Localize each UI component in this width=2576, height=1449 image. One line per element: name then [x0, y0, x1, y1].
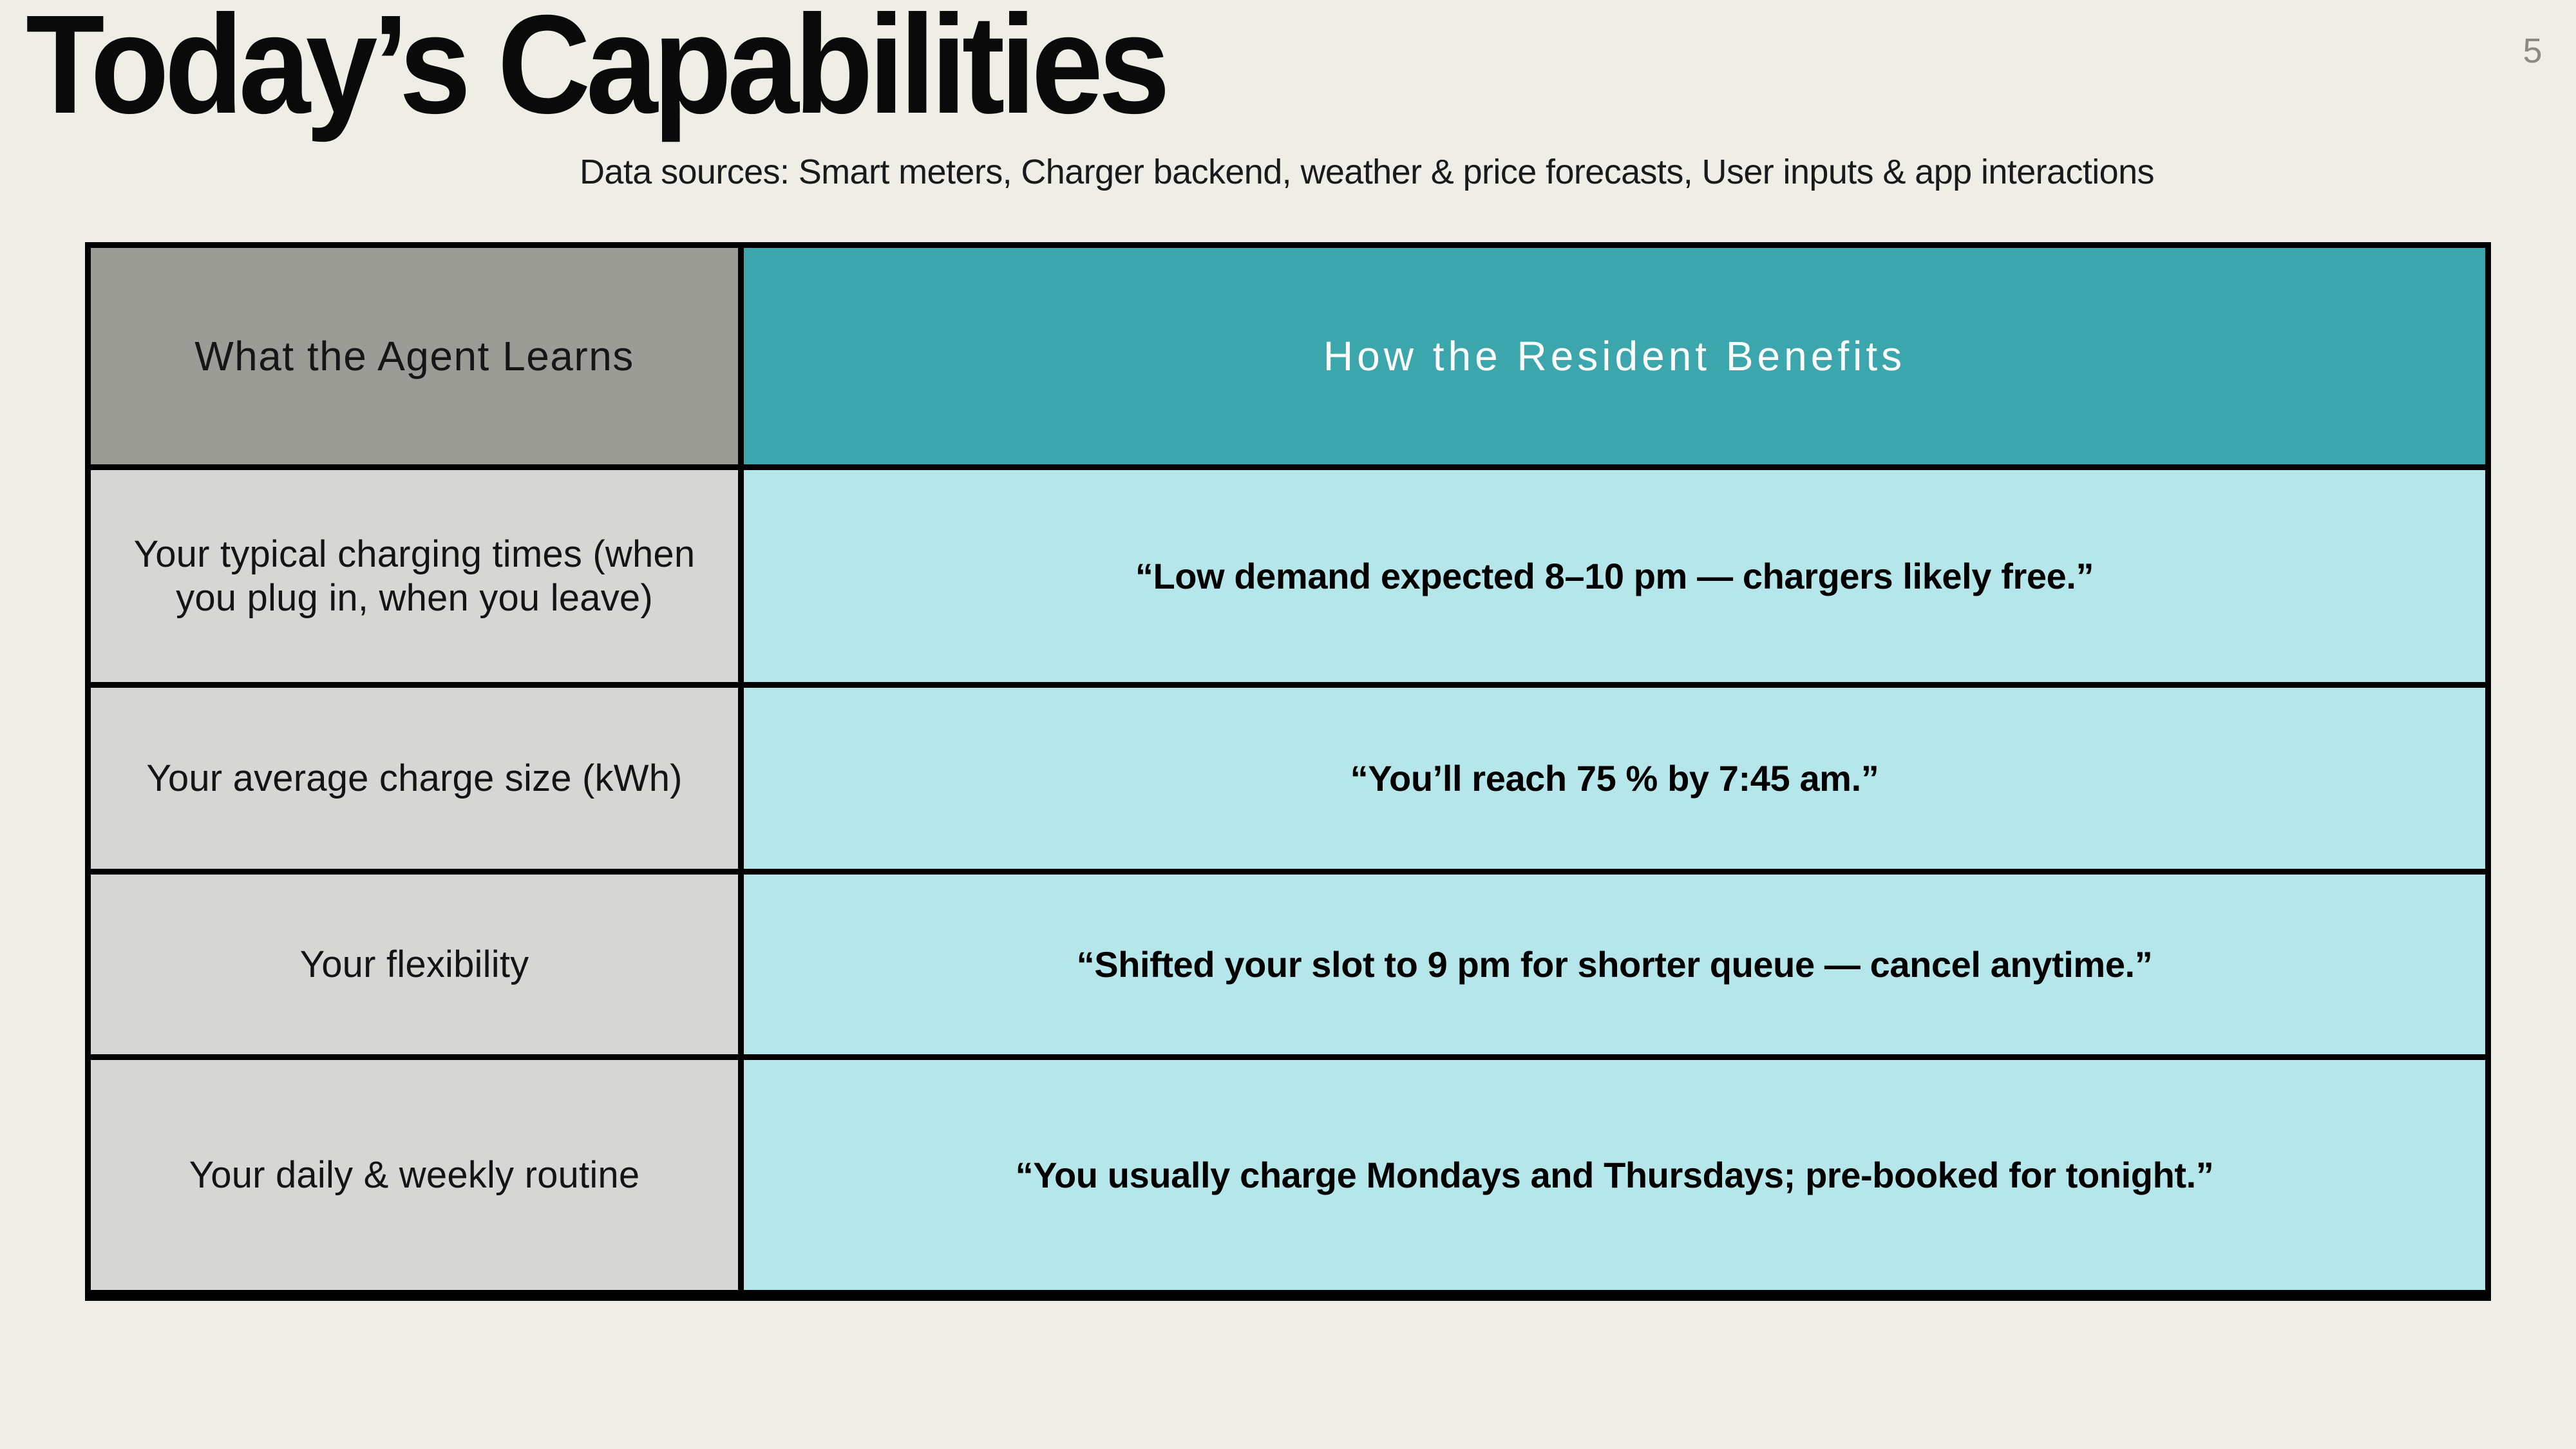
table-row: Your flexibility “Shifted your slot to 9… [91, 869, 2485, 1054]
slide-canvas: Today’s Capabilities Data sources: Smart… [0, 0, 2576, 1449]
cell-learns-2: Your average charge size (kWh) [91, 688, 744, 869]
header-label-learns: What the Agent Learns [194, 332, 634, 380]
capabilities-table: What the Agent Learns How the Resident B… [85, 242, 2491, 1301]
table-row: Your average charge size (kWh) “You’ll r… [91, 682, 2485, 869]
data-sources-subtitle: Data sources: Smart meters, Charger back… [580, 152, 2154, 192]
cell-benefits-4: “You usually charge Mondays and Thursday… [744, 1060, 2485, 1290]
cell-benefits-1: “Low demand expected 8–10 pm — chargers … [744, 470, 2485, 682]
header-cell-how-the-resident-benefits: How the Resident Benefits [744, 248, 2485, 464]
cell-learns-3: Your flexibility [91, 875, 744, 1054]
benefits-text-4: “You usually charge Mondays and Thursday… [1016, 1153, 2214, 1197]
table-row: Your typical charging times (when you pl… [91, 464, 2485, 682]
table-header-row: What the Agent Learns How the Resident B… [91, 248, 2485, 464]
page-title: Today’s Capabilities [26, 0, 1166, 135]
benefits-text-1: “Low demand expected 8–10 pm — chargers … [1135, 554, 2094, 598]
page-number: 5 [2523, 31, 2543, 71]
benefits-text-2: “You’ll reach 75 % by 7:45 am.” [1350, 757, 1879, 800]
learns-text-3: Your flexibility [300, 943, 529, 987]
benefits-text-3: “Shifted your slot to 9 pm for shorter q… [1077, 943, 2153, 986]
learns-text-2: Your average charge size (kWh) [146, 757, 682, 800]
cell-benefits-2: “You’ll reach 75 % by 7:45 am.” [744, 688, 2485, 869]
cell-benefits-3: “Shifted your slot to 9 pm for shorter q… [744, 875, 2485, 1054]
cell-learns-1: Your typical charging times (when you pl… [91, 470, 744, 682]
header-cell-what-the-agent-learns: What the Agent Learns [91, 248, 744, 464]
header-label-benefits: How the Resident Benefits [1323, 332, 1906, 380]
cell-learns-4: Your daily & weekly routine [91, 1060, 744, 1290]
table-row: Your daily & weekly routine “You usually… [91, 1054, 2485, 1290]
learns-text-4: Your daily & weekly routine [189, 1153, 640, 1197]
learns-text-1: Your typical charging times (when you pl… [108, 533, 721, 620]
